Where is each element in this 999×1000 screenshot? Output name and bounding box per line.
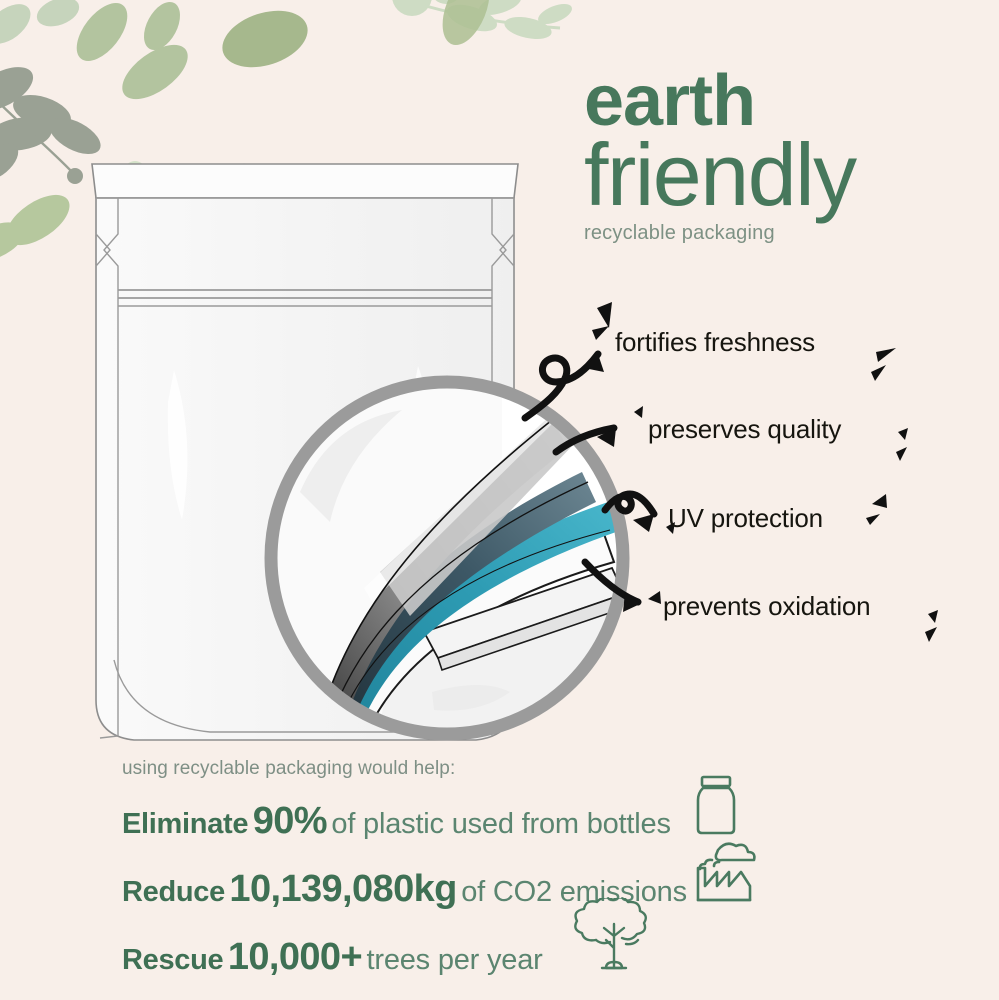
stat-number: 10,139,080kg bbox=[229, 868, 456, 910]
poster-canvas: earth friendly recyclable packaging fort… bbox=[0, 0, 999, 1000]
factory-icon bbox=[692, 838, 766, 906]
tree-icon bbox=[566, 898, 662, 978]
headline-subtitle: recyclable packaging bbox=[584, 222, 984, 245]
callout-label-preserves-quality: preserves quality bbox=[648, 414, 841, 445]
stat-number: 90% bbox=[253, 800, 327, 842]
stats-lead-text: using recyclable packaging would help: bbox=[122, 758, 882, 780]
stat-tail: of plastic used from bottles bbox=[331, 808, 670, 840]
callout-label-prevents-oxidation: prevents oxidation bbox=[663, 591, 870, 622]
stat-row-rescue: Rescue 10,000+ trees per year bbox=[122, 936, 882, 979]
callout-label-uv-protection: UV protection bbox=[668, 503, 823, 534]
headline-block: earth friendly recyclable packaging bbox=[584, 72, 984, 245]
headline-line-2: friendly bbox=[584, 135, 984, 216]
stat-verb: Reduce bbox=[122, 876, 225, 908]
bottle-icon bbox=[688, 774, 744, 836]
stat-row-reduce: Reduce 10,139,080kg of CO2 emissions bbox=[122, 868, 882, 911]
callout-label-fortifies-freshness: fortifies freshness bbox=[615, 327, 815, 358]
stat-row-eliminate: Eliminate 90% of plastic used from bottl… bbox=[122, 800, 882, 843]
stat-verb: Rescue bbox=[122, 944, 223, 976]
impact-stats-block: using recyclable packaging would help: E… bbox=[122, 758, 882, 979]
stat-number: 10,000+ bbox=[228, 936, 362, 978]
stat-verb: Eliminate bbox=[122, 808, 248, 840]
headline-line-1: earth bbox=[584, 72, 984, 131]
stat-tail: trees per year bbox=[367, 944, 543, 976]
